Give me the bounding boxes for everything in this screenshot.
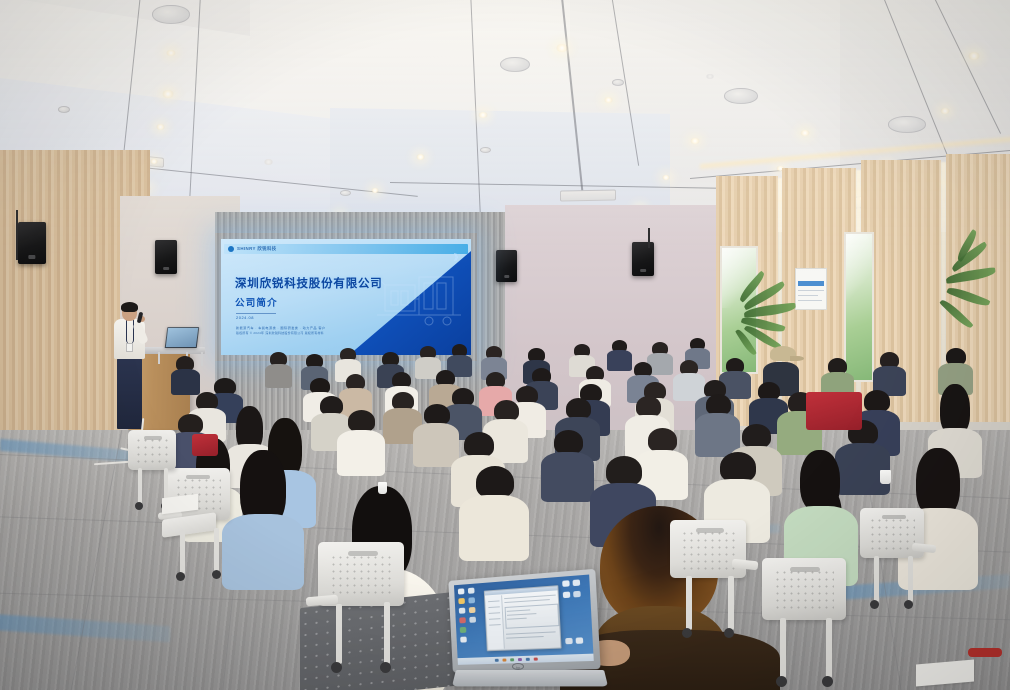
conference-room-photo: SHINRY 欣锐科技 》 深圳欣锐科技股份有限公司: [0, 0, 1010, 690]
wall-speaker-left: [155, 240, 177, 274]
hp-logo: hp: [512, 663, 524, 670]
notice-header-bar: [798, 281, 824, 286]
ceiling-diffuser: [152, 5, 190, 24]
presenter-badge: [126, 343, 133, 352]
windows-taskbar[interactable]: [458, 654, 594, 665]
smoke-detector-icon: [612, 79, 624, 86]
slide-product-lineart: [371, 261, 467, 333]
laptop-lid: [448, 569, 600, 673]
presentation-slide: SHINRY 欣锐科技 》 深圳欣锐科技股份有限公司: [221, 239, 471, 355]
wall-speaker-center-right: [496, 250, 517, 282]
wall-speaker-right: [632, 242, 654, 276]
foreground-laptop: hp: [446, 575, 606, 690]
coffee-cup: [378, 482, 387, 494]
slide-footer-line-1: 新能源汽车 · 车载电源类 · 国际研发类 · 动力产品 客户: [236, 325, 326, 330]
wall-speaker-far-left: [18, 222, 46, 264]
slide-date: 2024.08: [236, 315, 254, 320]
smoke-detector-icon: [480, 147, 491, 153]
window-sidebar: [486, 595, 505, 649]
hvac-vent: [560, 190, 616, 202]
laptop-open-window[interactable]: [484, 585, 562, 651]
bag-on-chair: [192, 434, 218, 456]
smoke-detector-icon: [340, 190, 351, 196]
slide-divider: [236, 313, 276, 314]
bag-on-chair: [806, 392, 862, 430]
wall-mounted-notice: [795, 268, 827, 310]
pen-object: [968, 648, 1002, 657]
company-logo-text: SHINRY 欣锐科技: [237, 246, 277, 252]
company-logo-icon: [228, 246, 234, 252]
slide-footer-line-2: 版权所有 © 2024年 深圳欣锐科技股份有限公司 版权所有材料: [236, 331, 324, 335]
slide-title: 深圳欣锐科技股份有限公司: [235, 275, 383, 291]
ceiling-diffuser: [724, 88, 758, 104]
lectern-laptop: [165, 327, 200, 348]
slide-corner-mark: 》: [454, 252, 462, 263]
ceiling-diffuser: [500, 57, 530, 72]
ceiling-diffuser: [888, 116, 926, 133]
coffee-cup: [880, 470, 891, 484]
lectern-laptop-screen: [166, 328, 198, 347]
laptop-keyboard-base[interactable]: [452, 670, 608, 686]
projection-screen: SHINRY 欣锐科技 》 深圳欣锐科技股份有限公司: [221, 239, 471, 355]
smoke-detector-icon: [58, 106, 70, 113]
laptop-screen[interactable]: [454, 575, 594, 665]
slide-subtitle: 公司简介: [235, 295, 278, 309]
presenter-hair: [121, 302, 138, 312]
presenter-trousers: [117, 357, 142, 429]
